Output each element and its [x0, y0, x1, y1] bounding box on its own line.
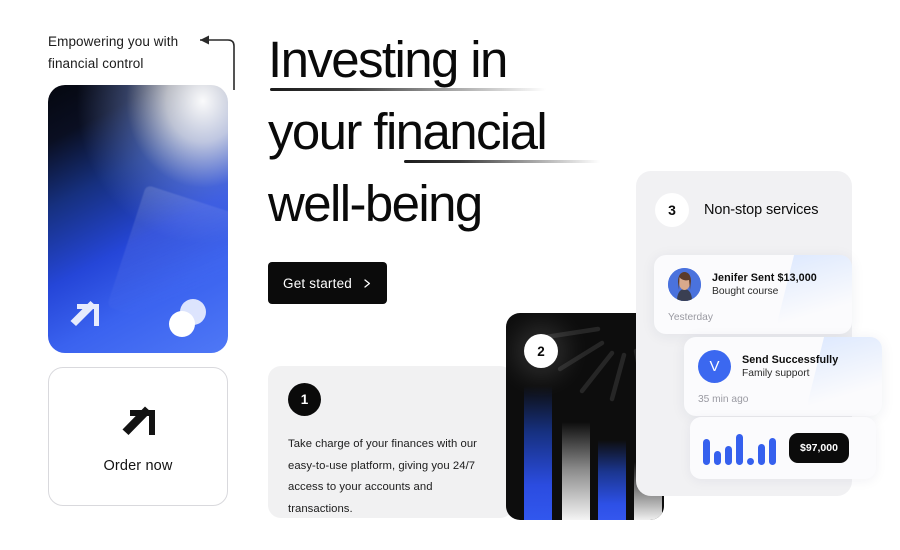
landing-page: Empowering you with financial control Or… [0, 0, 900, 550]
get-started-label: Get started [283, 276, 352, 291]
notification-card[interactable]: V Send Successfully Family support 35 mi… [684, 337, 882, 416]
gradient-credit-card[interactable] [48, 85, 228, 353]
bar [725, 446, 732, 465]
bar [747, 458, 754, 465]
services-number-badge: 3 [655, 193, 689, 227]
step-card-body: Take charge of your finances with our ea… [288, 434, 493, 521]
notification-title: Send Successfully [742, 354, 838, 366]
balance-chart-card[interactable]: $97,000 [690, 417, 876, 479]
brand-arrow-logo [64, 295, 104, 335]
hero-line-3: well-being [268, 168, 482, 240]
hero-underline-1 [270, 88, 546, 91]
bar [736, 434, 743, 465]
hero-line-1-text: Investing in [268, 24, 507, 96]
balance-amount-pill: $97,000 [789, 433, 849, 463]
dark-card-number-badge: 2 [524, 334, 558, 368]
arrow-left-elbow-icon [188, 26, 244, 92]
hero-line-2: your financial [268, 96, 546, 168]
v-monogram-avatar: V [698, 350, 731, 383]
mini-bar-chart [703, 431, 776, 465]
order-now-label: Order now [103, 458, 172, 474]
bar [758, 444, 765, 465]
services-header: 3 Non-stop services [655, 193, 818, 227]
hero-line-3-text: well-being [268, 168, 482, 240]
notification-subtitle: Bought course [712, 286, 817, 297]
services-panel: 3 Non-stop services Jenifer Sent $13,000… [636, 171, 852, 496]
hero-heading: Investing in your financial well-being [268, 24, 628, 240]
bar [703, 439, 710, 465]
notification-title: Jenifer Sent $13,000 [712, 272, 817, 284]
notification-time: 35 min ago [698, 394, 868, 405]
annotation-text: Empowering you with financial control [48, 31, 198, 75]
get-started-button[interactable]: Get started [268, 262, 387, 304]
notification-card[interactable]: Jenifer Sent $13,000 Bought course Yeste… [654, 255, 852, 334]
hero-line-1: Investing in [268, 24, 507, 96]
order-now-card[interactable]: Order now [48, 367, 228, 506]
brand-arrow-logo [115, 400, 161, 446]
bar [714, 451, 721, 465]
step-number-badge: 1 [288, 383, 321, 416]
notification-time: Yesterday [668, 312, 838, 323]
hero-underline-2 [404, 160, 600, 163]
chevron-right-icon [363, 279, 372, 288]
hero-line-2-text: your financial [268, 96, 546, 168]
services-title: Non-stop services [704, 202, 818, 218]
step-card-1: 1 Take charge of your finances with our … [268, 366, 513, 518]
avatar-initial: V [709, 359, 719, 374]
jenifer-photo-avatar [668, 268, 701, 301]
bar [769, 438, 776, 465]
notification-subtitle: Family support [742, 368, 838, 379]
dual-circle-chip-icon [168, 299, 212, 337]
